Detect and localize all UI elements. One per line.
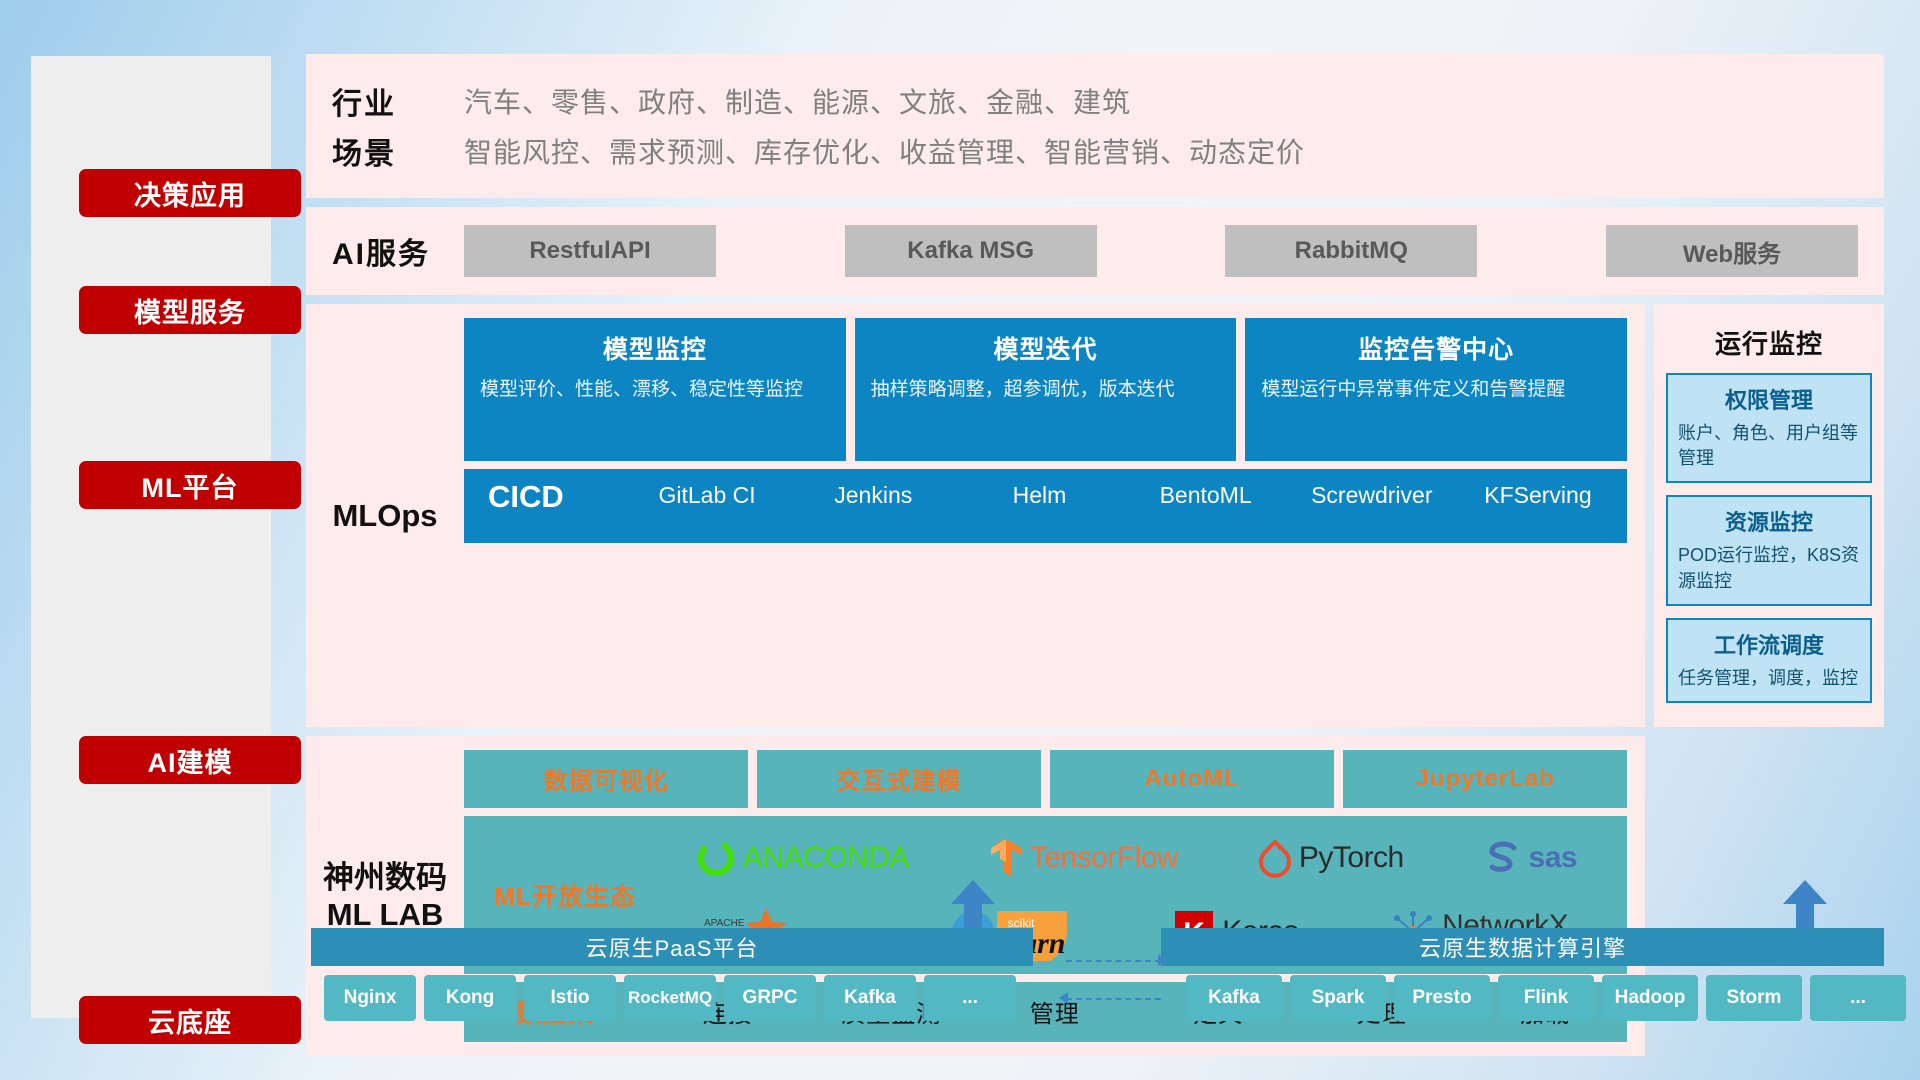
- engine-pill-flink[interactable]: Flink: [1498, 975, 1594, 1021]
- industry-label: 行业: [332, 79, 464, 123]
- lab-tool-data-visualization[interactable]: 数据可视化: [464, 750, 748, 808]
- card-desc: 抽样策略调整，超参调优，版本迭代: [871, 376, 1221, 404]
- ai-service-band: AI服务 RestfulAPI Kafka MSG RabbitMQ Web服务: [306, 207, 1884, 295]
- paas-pill-kong[interactable]: Kong: [424, 975, 516, 1021]
- paas-pill-nginx[interactable]: Nginx: [324, 975, 416, 1021]
- cicd-item-gitlab-ci[interactable]: GitLab CI: [624, 479, 790, 512]
- diagram-canvas: 决策应用 模型服务 ML平台 AI建模 云底座 行业 汽车、零售、政府、制造、能…: [0, 0, 1920, 1080]
- service-label: RestfulAPI: [529, 237, 650, 265]
- tensorflow-logo: TensorFlow: [989, 837, 1178, 879]
- mlops-card-alert-center[interactable]: 监控告警中心 模型运行中异常事件定义和告警提醒: [1245, 318, 1627, 461]
- cicd-item-list: GitLab CI Jenkins Helm BentoML Screwdriv…: [624, 479, 1621, 512]
- ml-lab-tool-list: 数据可视化 交互式建模 AutoML JupyterLab: [464, 750, 1627, 808]
- cicd-bar: CICD GitLab CI Jenkins Helm BentoML Scre…: [464, 469, 1627, 543]
- arrow-up-left-head: [951, 880, 995, 904]
- service-chip-restfulapi[interactable]: RestfulAPI: [464, 225, 716, 277]
- tier-chip-cloud-base[interactable]: 云底座: [79, 996, 301, 1044]
- sas-label: sas: [1529, 841, 1578, 875]
- service-label: RabbitMQ: [1295, 237, 1408, 265]
- monitor-card-resource[interactable]: 资源监控 POD运行监控，K8S资源监控: [1666, 495, 1872, 605]
- lab-tool-jupyterlab[interactable]: JupyterLab: [1343, 750, 1627, 808]
- cloud-bar-data-engine[interactable]: 云原生数据计算引擎: [1161, 928, 1884, 966]
- lab-tool-automl[interactable]: AutoML: [1050, 750, 1334, 808]
- sas-logo: sas: [1484, 840, 1578, 876]
- engine-pill-storm[interactable]: Storm: [1706, 975, 1802, 1021]
- tier-label: ML平台: [142, 466, 239, 505]
- tensorflow-icon: [989, 837, 1023, 879]
- mlops-body: 模型监控 模型评价、性能、漂移、稳定性等监控 模型迭代 抽样策略调整，超参调优，…: [464, 318, 1627, 713]
- cloud-bar-label: 云原生数据计算引擎: [1419, 931, 1626, 963]
- ml-platform-band: MLOps 模型监控 模型评价、性能、漂移、稳定性等监控 模型迭代 抽样策略调整…: [306, 304, 1884, 727]
- card-desc: 账户、角色、用户组等管理: [1678, 421, 1860, 471]
- lab-tool-interactive-modeling[interactable]: 交互式建模: [757, 750, 1041, 808]
- card-title: 工作流调度: [1678, 628, 1860, 660]
- paas-pill-kafka[interactable]: Kafka: [824, 975, 916, 1021]
- service-chip-kafka-msg[interactable]: Kafka MSG: [845, 225, 1097, 277]
- dashed-link-left-head: [1059, 992, 1068, 1004]
- industry-values: 汽车、零售、政府、制造、能源、文旅、金融、建筑: [464, 81, 1131, 121]
- card-title: 监控告警中心: [1261, 330, 1611, 366]
- data-engine-component-list: Kafka Spark Presto Flink Hadoop Storm ..…: [1186, 975, 1906, 1021]
- engine-pill-presto[interactable]: Presto: [1394, 975, 1490, 1021]
- cloud-base-section: 云原生PaaS平台 云原生数据计算引擎 Nginx Kong Istio Roc…: [306, 880, 1884, 1045]
- scenario-row: 场景 智能风控、需求预测、库存优化、收益管理、智能营销、动态定价: [332, 126, 1884, 176]
- tier-label: 决策应用: [134, 174, 246, 213]
- cicd-item-jenkins[interactable]: Jenkins: [790, 479, 956, 512]
- engine-pill-kafka[interactable]: Kafka: [1186, 975, 1282, 1021]
- card-desc: 模型运行中异常事件定义和告警提醒: [1261, 376, 1611, 404]
- arrow-up-right-head: [1783, 880, 1827, 904]
- paas-pill-more[interactable]: ...: [924, 975, 1016, 1021]
- anaconda-icon: [696, 838, 736, 878]
- tier-chip-model-service[interactable]: 模型服务: [79, 286, 301, 334]
- card-title: 模型迭代: [871, 330, 1221, 366]
- monitor-card-workflow[interactable]: 工作流调度 任务管理，调度，监控: [1666, 618, 1872, 703]
- ai-service-list: RestfulAPI Kafka MSG RabbitMQ Web服务: [464, 225, 1858, 277]
- mlops-card-model-iteration[interactable]: 模型迭代 抽样策略调整，超参调优，版本迭代: [855, 318, 1237, 461]
- paas-component-list: Nginx Kong Istio RocketMQ GRPC Kafka ...: [324, 975, 1016, 1021]
- tier-rail: 决策应用 模型服务 ML平台 AI建模 云底座: [31, 56, 271, 1018]
- engine-pill-hadoop[interactable]: Hadoop: [1602, 975, 1698, 1021]
- decision-apps-band: 行业 汽车、零售、政府、制造、能源、文旅、金融、建筑 场景 智能风控、需求预测、…: [306, 54, 1884, 198]
- sas-icon: [1484, 840, 1522, 876]
- dashed-link-left: [1066, 998, 1161, 1000]
- arrow-up-left-stem: [964, 902, 982, 930]
- mlops-card-model-monitoring[interactable]: 模型监控 模型评价、性能、漂移、稳定性等监控: [464, 318, 846, 461]
- card-title: 资源监控: [1678, 505, 1860, 537]
- runtime-monitor-panel: 运行监控 权限管理 账户、角色、用户组等管理 资源监控 POD运行监控，K8S资…: [1654, 304, 1884, 727]
- monitor-card-permission[interactable]: 权限管理 账户、角色、用户组等管理: [1666, 373, 1872, 483]
- card-title: 权限管理: [1678, 383, 1860, 415]
- cicd-item-screwdriver[interactable]: Screwdriver: [1289, 479, 1455, 512]
- paas-pill-grpc[interactable]: GRPC: [724, 975, 816, 1021]
- pytorch-icon: [1258, 838, 1292, 878]
- ai-service-label: AI服务: [332, 229, 464, 273]
- tier-label: 云底座: [148, 1001, 232, 1040]
- cloud-bar-paas[interactable]: 云原生PaaS平台: [311, 928, 1033, 966]
- anaconda-label: ANACONDA: [743, 841, 909, 875]
- industry-row: 行业 汽车、零售、政府、制造、能源、文旅、金融、建筑: [332, 76, 1884, 126]
- paas-pill-istio[interactable]: Istio: [524, 975, 616, 1021]
- cicd-item-kfserving[interactable]: KFServing: [1455, 479, 1621, 512]
- card-desc: 任务管理，调度，监控: [1678, 666, 1860, 691]
- tier-chip-ml-platform[interactable]: ML平台: [79, 461, 301, 509]
- dashed-link-right: [1066, 960, 1161, 962]
- runtime-monitor-title: 运行监控: [1666, 314, 1872, 373]
- mlops-section: MLOps 模型监控 模型评价、性能、漂移、稳定性等监控 模型迭代 抽样策略调整…: [306, 304, 1645, 727]
- cicd-item-bentoml[interactable]: BentoML: [1123, 479, 1289, 512]
- pytorch-label: PyTorch: [1299, 841, 1404, 875]
- engine-pill-spark[interactable]: Spark: [1290, 975, 1386, 1021]
- card-desc: 模型评价、性能、漂移、稳定性等监控: [480, 376, 830, 404]
- card-desc: POD运行监控，K8S资源监控: [1678, 543, 1860, 593]
- scenario-values: 智能风控、需求预测、库存优化、收益管理、智能营销、动态定价: [464, 131, 1305, 171]
- service-chip-rabbitmq[interactable]: RabbitMQ: [1225, 225, 1477, 277]
- paas-pill-rocketmq[interactable]: RocketMQ: [624, 975, 716, 1021]
- service-label: Kafka MSG: [907, 237, 1034, 265]
- tensorflow-label: TensorFlow: [1030, 841, 1178, 875]
- pytorch-logo: PyTorch: [1258, 838, 1404, 878]
- scenario-label: 场景: [332, 129, 464, 173]
- cicd-title: CICD: [474, 479, 624, 515]
- tier-label: AI建模: [148, 741, 233, 780]
- arrow-up-right-stem: [1796, 902, 1814, 930]
- tier-chip-decision-apps[interactable]: 决策应用: [79, 169, 301, 217]
- tier-label: 模型服务: [134, 291, 246, 330]
- service-label: Web服务: [1683, 234, 1781, 269]
- mlops-row-label: MLOps: [306, 318, 464, 713]
- dashed-link-right-head: [1158, 954, 1167, 966]
- engine-pill-more[interactable]: ...: [1810, 975, 1906, 1021]
- cicd-item-helm[interactable]: Helm: [956, 479, 1122, 512]
- card-title: 模型监控: [480, 330, 830, 366]
- tier-chip-ai-modeling[interactable]: AI建模: [79, 736, 301, 784]
- mlops-card-list: 模型监控 模型评价、性能、漂移、稳定性等监控 模型迭代 抽样策略调整，超参调优，…: [464, 318, 1627, 461]
- service-chip-web[interactable]: Web服务: [1606, 225, 1858, 277]
- cloud-bar-label: 云原生PaaS平台: [586, 931, 759, 963]
- anaconda-logo: ANACONDA: [696, 838, 909, 878]
